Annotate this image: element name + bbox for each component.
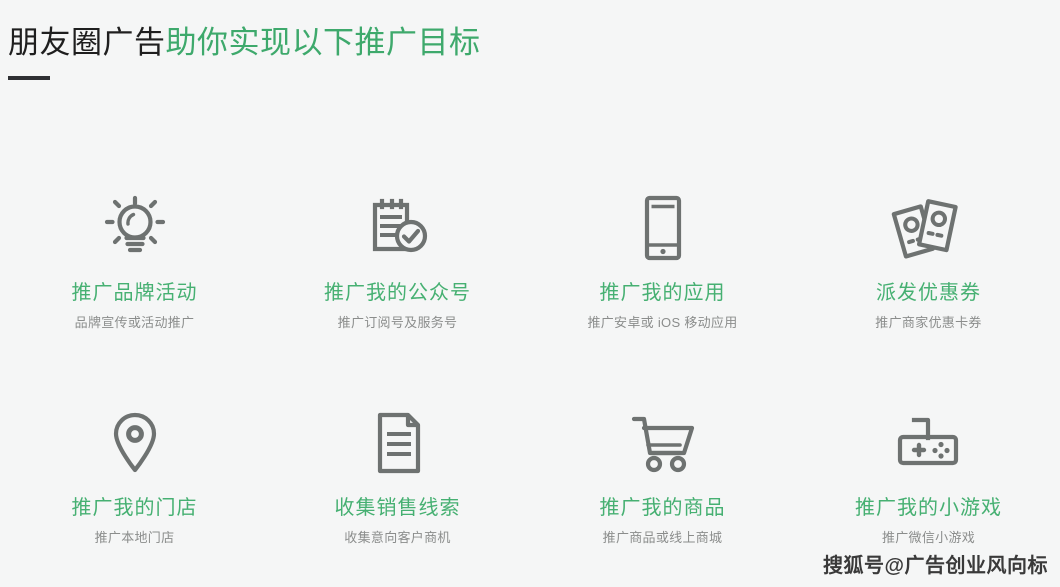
page-title-dark: 朋友圈广告 xyxy=(8,25,166,60)
coupon-tickets-icon xyxy=(890,182,968,274)
goal-card-mobile-app[interactable]: 推广我的应用 推广安卓或 iOS 移动应用 xyxy=(530,150,795,365)
goal-card-subtitle: 品牌宣传或活动推广 xyxy=(75,314,195,332)
document-lines-icon xyxy=(361,397,435,489)
goal-card-subtitle: 推广安卓或 iOS 移动应用 xyxy=(587,314,737,332)
goal-card-subtitle: 收集意向客户商机 xyxy=(344,529,450,547)
watermark-text: 搜狐号@广告创业风向标 xyxy=(823,553,1048,579)
gamepad-icon xyxy=(890,397,968,489)
goals-grid: 推广品牌活动 品牌宣传或活动推广 推广我的公众号 推广订阅号及服务号 xyxy=(0,150,1060,580)
lightbulb-icon xyxy=(98,182,172,274)
goal-card-subtitle: 推广订阅号及服务号 xyxy=(338,314,458,332)
goal-card-title: 推广我的公众号 xyxy=(324,280,471,306)
page-header: 朋友圈广告助你实现以下推广目标 xyxy=(8,22,908,80)
goal-card-title: 推广我的商品 xyxy=(600,495,726,521)
goal-card-title: 推广我的门店 xyxy=(72,495,198,521)
goal-card-official-account[interactable]: 推广我的公众号 推广订阅号及服务号 xyxy=(265,150,530,365)
goal-card-title: 推广品牌活动 xyxy=(72,280,198,306)
page-title-green: 助你实现以下推广目标 xyxy=(166,25,481,60)
goal-card-products[interactable]: 推广我的商品 推广商品或线上商城 xyxy=(530,365,795,580)
goal-card-title: 推广我的小游戏 xyxy=(855,495,1002,521)
title-underline-rule xyxy=(8,76,50,80)
goal-card-subtitle: 推广本地门店 xyxy=(95,529,175,547)
clipboard-check-icon xyxy=(361,182,435,274)
goal-card-mini-game[interactable]: 推广我的小游戏 推广微信小游戏 xyxy=(795,365,1060,580)
promotion-goals-page: 朋友圈广告助你实现以下推广目标 xyxy=(0,0,1060,587)
goal-card-sales-leads[interactable]: 收集销售线索 收集意向客户商机 xyxy=(265,365,530,580)
goal-card-brand-campaign[interactable]: 推广品牌活动 品牌宣传或活动推广 xyxy=(0,150,265,365)
goal-card-subtitle: 推广微信小游戏 xyxy=(882,529,975,547)
goal-card-title: 收集销售线索 xyxy=(335,495,461,521)
shopping-cart-icon xyxy=(624,397,702,489)
goal-card-coupons[interactable]: 派发优惠券 推广商家优惠卡券 xyxy=(795,150,1060,365)
map-pin-icon xyxy=(98,397,172,489)
goal-card-subtitle: 推广商家优惠卡券 xyxy=(875,314,981,332)
smartphone-icon xyxy=(626,182,700,274)
goal-card-title: 派发优惠券 xyxy=(876,280,981,306)
goal-card-title: 推广我的应用 xyxy=(600,280,726,306)
page-title: 朋友圈广告助你实现以下推广目标 xyxy=(8,22,908,64)
goal-card-store[interactable]: 推广我的门店 推广本地门店 xyxy=(0,365,265,580)
goal-card-subtitle: 推广商品或线上商城 xyxy=(603,529,723,547)
